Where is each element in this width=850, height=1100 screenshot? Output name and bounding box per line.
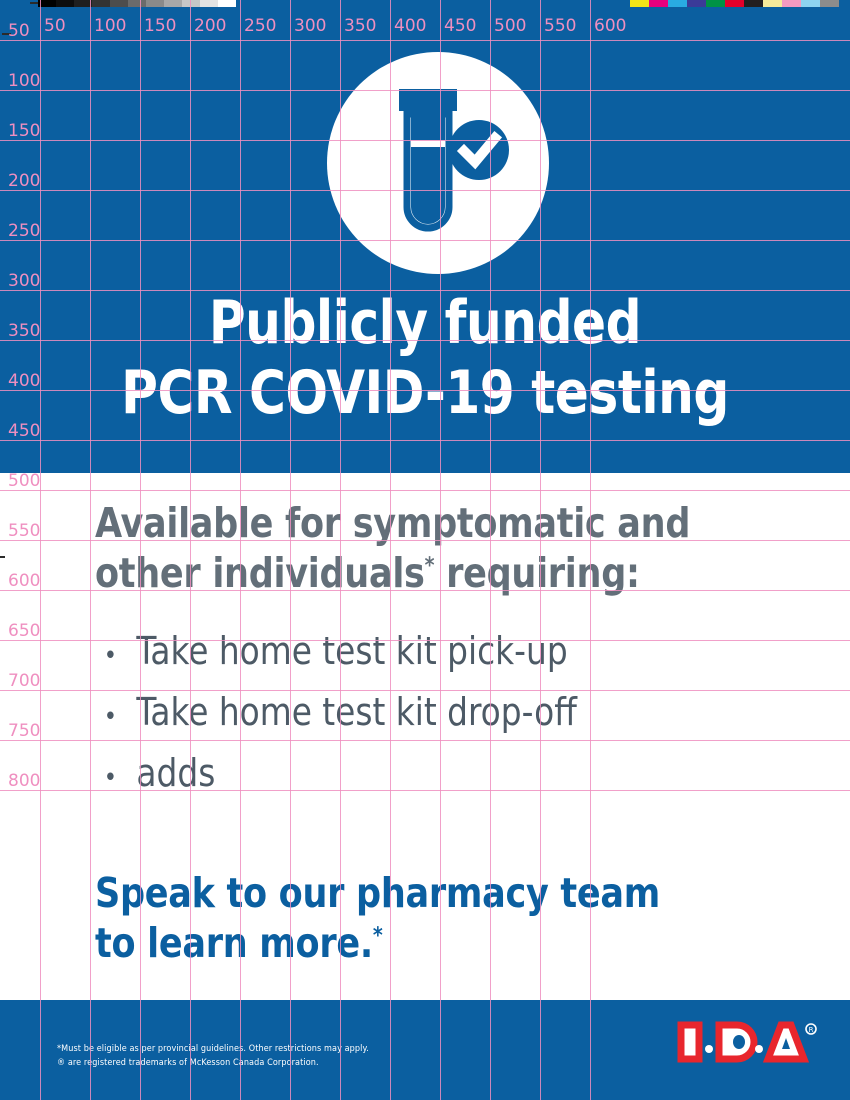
headline-line-1: Publicly funded xyxy=(209,288,641,358)
ida-logo-glyph: R xyxy=(675,1018,825,1066)
list-item-label: adds xyxy=(136,745,770,801)
screenshot-canvas: Publicly funded PCR COVID-19 testing Ava… xyxy=(0,0,850,1100)
poster-bullet-list: • Take home test kit pick-up • Take home… xyxy=(98,623,770,806)
list-item-label: Take home test kit drop-off xyxy=(136,684,770,740)
test-tube-check-icon xyxy=(327,52,549,274)
cta-asterisk: * xyxy=(373,922,383,948)
cta-line-2: to learn more. xyxy=(95,919,373,967)
list-item: • adds xyxy=(98,745,770,806)
legal-line-1: *Must be eligible as per provincial guid… xyxy=(57,1042,487,1056)
poster-headline: Publicly funded PCR COVID-19 testing xyxy=(30,288,821,428)
headline-line-2: PCR COVID-19 testing xyxy=(30,358,821,428)
ida-logo: R xyxy=(675,1018,825,1066)
list-item: • Take home test kit drop-off xyxy=(98,684,770,745)
svg-text:R: R xyxy=(809,1026,814,1034)
poster-call-to-action: Speak to our pharmacy teamto learn more.… xyxy=(95,868,760,968)
poster-artwork: Publicly funded PCR COVID-19 testing Ava… xyxy=(0,0,850,1100)
list-item-label: Take home test kit pick-up xyxy=(136,623,770,679)
legal-line-2: ® are registered trademarks of McKesson … xyxy=(57,1056,487,1070)
subhead-asterisk: * xyxy=(425,552,435,578)
bullet-dot-icon: • xyxy=(98,628,136,684)
test-tube-check-glyph xyxy=(327,52,549,274)
subhead-text-after: requiring: xyxy=(434,549,640,597)
footer-legal-text: *Must be eligible as per provincial guid… xyxy=(57,1042,487,1070)
cta-line-1: Speak to our pharmacy team xyxy=(95,869,660,917)
list-item: • Take home test kit pick-up xyxy=(98,623,770,684)
bullet-dot-icon: • xyxy=(98,689,136,745)
bullet-dot-icon: • xyxy=(98,750,136,806)
poster-subhead: Available for symptomatic and other indi… xyxy=(95,498,741,598)
